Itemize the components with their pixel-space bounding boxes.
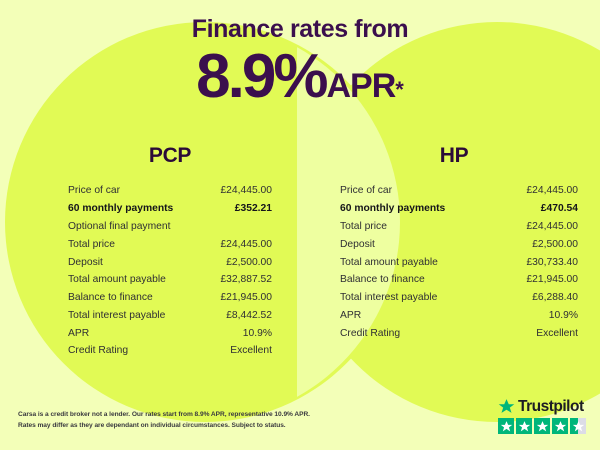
column-title-pcp: PCP: [68, 144, 272, 168]
row-label: Total amount payable: [340, 257, 438, 268]
row-value: £2,500.00: [226, 257, 272, 268]
row-label: Credit Rating: [68, 345, 128, 356]
row-label: Total price: [340, 221, 387, 232]
disclaimer-line-2: Rates may differ as they are dependant o…: [18, 420, 358, 432]
finance-column-hp: HP Price of car £24,445.00 60 monthly pa…: [300, 144, 600, 360]
rate-asterisk: *: [395, 79, 404, 101]
row-label: Total price: [68, 239, 115, 250]
column-title-hp: HP: [330, 144, 578, 168]
table-row: Total amount payable £30,733.40: [340, 253, 578, 271]
headline-rate: 8.9% APR *: [0, 46, 600, 108]
page-title: Finance rates from: [0, 0, 600, 44]
row-label: Optional final payment: [68, 221, 170, 232]
finance-rates-poster: Finance rates from 8.9% APR * PCP Price …: [0, 0, 600, 450]
row-value: £2,500.00: [532, 239, 578, 250]
row-value: £21,945.00: [220, 292, 272, 303]
table-row: Price of car £24,445.00: [340, 182, 578, 200]
table-row: Total amount payable £32,887.52: [68, 271, 272, 289]
table-row: 60 monthly payments £352.21: [68, 200, 272, 218]
hp-rows: Price of car £24,445.00 60 monthly payme…: [340, 182, 578, 342]
row-value: £21,945.00: [526, 274, 578, 285]
finance-comparison: PCP Price of car £24,445.00 60 monthly p…: [0, 144, 600, 360]
row-label: APR: [68, 328, 89, 339]
rate-value: 8.9%: [196, 46, 325, 108]
trustpilot-name: Trustpilot: [518, 399, 584, 415]
table-row: Optional final payment: [68, 218, 272, 236]
row-value: £24,445.00: [526, 221, 578, 232]
row-label: Balance to finance: [340, 274, 425, 285]
trustpilot-star-rating: [498, 418, 586, 434]
row-value: £24,445.00: [220, 185, 272, 196]
star-half-icon: [570, 418, 586, 434]
table-row: APR 10.9%: [340, 306, 578, 324]
table-row: Credit Rating Excellent: [68, 342, 272, 360]
row-value: Excellent: [230, 345, 272, 356]
trustpilot-rating[interactable]: Trustpilot: [498, 398, 586, 434]
rate-unit: APR: [326, 69, 395, 103]
row-value: £32,887.52: [220, 274, 272, 285]
star-icon: [552, 418, 568, 434]
row-value: 10.9%: [549, 310, 578, 321]
poster-header: Finance rates from 8.9% APR *: [0, 0, 600, 108]
table-row: Total interest payable £6,288.40: [340, 289, 578, 307]
row-label: Credit Rating: [340, 328, 400, 339]
table-row: Total price £24,445.00: [340, 218, 578, 236]
table-row: APR 10.9%: [68, 324, 272, 342]
finance-column-pcp: PCP Price of car £24,445.00 60 monthly p…: [0, 144, 300, 360]
row-label: Balance to finance: [68, 292, 153, 303]
row-label: Price of car: [340, 185, 392, 196]
table-row: Total interest payable £8,442.52: [68, 306, 272, 324]
row-value: £8,442.52: [226, 310, 272, 321]
row-value: £470.54: [541, 203, 578, 214]
legal-disclaimer: Carsa is a credit broker not a lender. O…: [18, 409, 358, 432]
table-row: Total price £24,445.00: [68, 235, 272, 253]
row-label: Total amount payable: [68, 274, 166, 285]
row-value: £352.21: [235, 203, 272, 214]
row-label: Total interest payable: [68, 310, 165, 321]
row-label: 60 monthly payments: [340, 203, 445, 214]
row-value: £24,445.00: [526, 185, 578, 196]
row-value: £6,288.40: [532, 292, 578, 303]
table-row: Deposit £2,500.00: [340, 235, 578, 253]
trustpilot-wordmark: Trustpilot: [498, 398, 586, 415]
table-row: Balance to finance £21,945.00: [68, 289, 272, 307]
star-icon: [516, 418, 532, 434]
pcp-rows: Price of car £24,445.00 60 monthly payme…: [68, 182, 272, 360]
disclaimer-line-1: Carsa is a credit broker not a lender. O…: [18, 409, 358, 421]
table-row: 60 monthly payments £470.54: [340, 200, 578, 218]
trustpilot-star-icon: [498, 398, 515, 415]
row-value: Excellent: [536, 328, 578, 339]
table-row: Deposit £2,500.00: [68, 253, 272, 271]
row-label: 60 monthly payments: [68, 203, 173, 214]
row-label: Deposit: [68, 257, 103, 268]
table-row: Balance to finance £21,945.00: [340, 271, 578, 289]
row-label: APR: [340, 310, 361, 321]
row-label: Total interest payable: [340, 292, 437, 303]
row-label: Price of car: [68, 185, 120, 196]
star-icon: [534, 418, 550, 434]
table-row: Price of car £24,445.00: [68, 182, 272, 200]
row-label: Deposit: [340, 239, 375, 250]
row-value: 10.9%: [243, 328, 272, 339]
table-row: Credit Rating Excellent: [340, 324, 578, 342]
row-value: £30,733.40: [526, 257, 578, 268]
row-value: £24,445.00: [220, 239, 272, 250]
star-icon: [498, 418, 514, 434]
